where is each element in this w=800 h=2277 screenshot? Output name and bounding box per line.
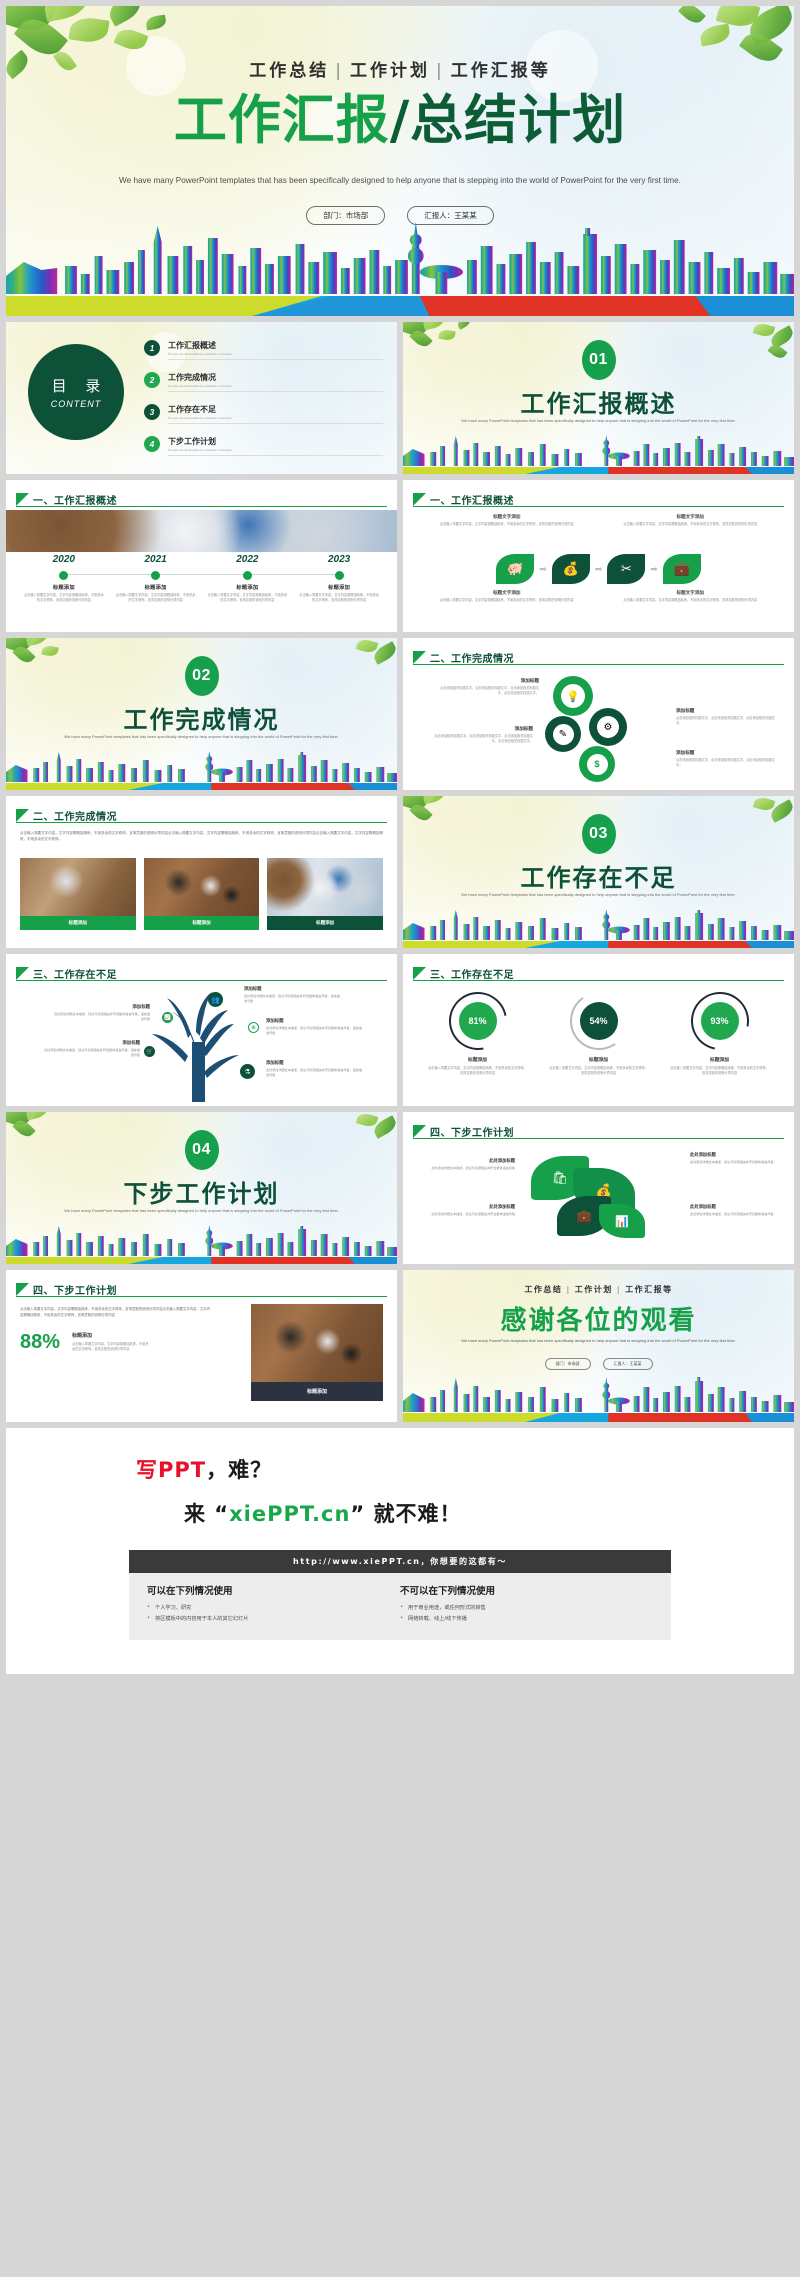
timeline-dot[interactable] xyxy=(243,571,252,580)
section-title: 下步工作计划 xyxy=(6,1174,397,1209)
toc-item-4[interactable]: 4 下步工作计划 The user can demonstrate on a p… xyxy=(144,436,383,456)
meeting-photo xyxy=(6,510,397,552)
title-main: 工作汇报/总结计划 xyxy=(6,92,794,150)
timeline-dot[interactable] xyxy=(151,571,160,580)
triangle-marker-icon xyxy=(16,967,29,980)
donut-stat[interactable]: 54% 标题添加 点击输入简要文字内容，文字内容需概括精炼，不用多余的文字修饰，… xyxy=(538,992,659,1076)
leaf-caption: 标题文字添加 点击输入简要文字内容，文字内容需概括精炼，不用多余的文字修饰，言简… xyxy=(415,514,599,527)
card-photo xyxy=(144,858,260,916)
slide-thumbnail-grid: 工作总结|工作计划|工作汇报等 工作汇报/总结计划 We have many P… xyxy=(0,0,800,1422)
slide-leaf-icons[interactable]: 一、工作汇报概述 标题文字添加 点击输入简要文字内容，文字内容需概括精炼，不用多… xyxy=(403,480,794,632)
kicker-sep: | xyxy=(436,61,445,81)
tree-desc: 此处添加详细文本描述，建议与标题相关并符合整体语言风格，语言描述尽量 xyxy=(266,1068,364,1078)
chart-up-icon[interactable]: 📈 xyxy=(162,1012,173,1023)
card-label: 标题添加 xyxy=(144,916,260,930)
blob-text-block: 此处添加标题 此处添加详细文本描述，建议与标题相关并符合整体语言风格 xyxy=(425,1204,515,1217)
blob-title: 此处添加标题 xyxy=(425,1158,515,1164)
timeline-year-cell: 2021 xyxy=(110,554,202,565)
piggy-bank-icon[interactable]: 🐖 xyxy=(496,554,534,584)
gear-desc: 点击添加相关标题文字，点击添加相关标题文字，点击添加相关标题文字，点击添加相关标… xyxy=(429,734,533,744)
header-rule xyxy=(413,664,784,665)
percent-left-column: 点击输入简要文字内容，文字内容需概括精炼，不用多余的文字修饰，言简意赅的说明分项… xyxy=(20,1306,210,1353)
header-rule xyxy=(413,506,784,507)
blob-title: 此处添加标题 xyxy=(690,1204,780,1210)
tree-desc: 此处添加详细文本描述，建议与标题相关并符合整体语言风格，语言描述尽量 xyxy=(52,1012,150,1022)
thanks-subtitle: We have many PowerPoint templates that h… xyxy=(403,1338,794,1345)
toc-item-1[interactable]: 1 工作汇报概述 The user can demonstrate on a p… xyxy=(144,340,383,360)
section-badge: 03 xyxy=(582,814,616,854)
blob-desc: 此处添加详细文本描述，建议与标题相关并符合整体语言风格 xyxy=(690,1212,780,1217)
license-allowed-heading: 可以在下列情况使用 xyxy=(147,1583,400,1597)
toc-title: 工作完成情况 xyxy=(168,372,383,383)
license-denied-item: 网络转载、线上/线下传播 xyxy=(400,1615,653,1622)
donut-title: 标题添加 xyxy=(538,1056,659,1063)
donut-stat[interactable]: 93% 标题添加 点击输入简要文字内容，文字内容需概括精炼，不用多余的文字修饰，… xyxy=(659,992,780,1076)
toc-desc: The user can demonstrate on a projector … xyxy=(168,417,383,420)
percent-image-card[interactable]: 标题添加 xyxy=(251,1304,383,1401)
section-subtitle: We have many PowerPoint templates that h… xyxy=(403,892,794,899)
triangle-marker-icon xyxy=(413,651,426,664)
gear-money[interactable]: $ xyxy=(579,746,615,782)
gear-pen[interactable]: ✎ xyxy=(545,716,581,752)
gear-title: 添加标题 xyxy=(676,750,780,756)
timeline-year: 2021 xyxy=(110,554,202,565)
donut-row: 81% 标题添加 点击输入简要文字内容，文字内容需概括精炼，不用多余的文字修饰，… xyxy=(417,992,780,1076)
donut-stat[interactable]: 81% 标题添加 点击输入简要文字内容，文字内容需概括精炼，不用多余的文字修饰，… xyxy=(417,992,538,1076)
tree-title: 添加标题 xyxy=(266,1060,364,1066)
leaf-caption-title: 标题文字添加 xyxy=(602,514,780,520)
money-icon: $ xyxy=(587,754,608,775)
license-body: 可以在下列情况使用 个人学习、研究 将区模板中的内容用于本人的其它幻灯片 不可以… xyxy=(129,1573,671,1640)
triangle-marker-icon xyxy=(413,967,426,980)
slide-section-03[interactable]: 03 工作存在不足 We have many PowerPoint templa… xyxy=(403,796,794,948)
triangle-marker-icon xyxy=(413,1125,426,1138)
section-title: 工作汇报概述 xyxy=(403,384,794,419)
timeline-rail-row xyxy=(18,568,385,582)
photo-card-row: 标题添加 标题添加 标题添加 xyxy=(20,858,383,930)
timeline-desc: 点击输入简要文字内容，文字内容需概括精炼，不用多余的文字修饰，言简意赅的说明分项… xyxy=(293,593,385,603)
donut-chart: 81% xyxy=(449,992,507,1050)
photo-card[interactable]: 标题添加 xyxy=(267,858,383,930)
leaf-caption: 标题文字添加 点击输入简要文字内容，文字内容需概括精炼，不用多余的文字修饰，言简… xyxy=(415,590,599,603)
kicker-item-1: 工作总结 xyxy=(524,1285,562,1294)
gear-title: 添加标题 xyxy=(676,708,780,714)
donut-desc: 点击输入简要文字内容，文字内容需概括精炼，不用多余的文字修饰，言简意赅的说明分项… xyxy=(659,1066,780,1076)
card-photo xyxy=(251,1304,383,1382)
leaf-caption-desc: 点击输入简要文字内容，文字内容需概括精炼，不用多余的文字修饰，言简意赅的说明分项… xyxy=(418,522,596,527)
timeline-bodies: 标题添加 点击输入简要文字内容，文字内容需概括精炼，不用多余的文字修饰，言简意赅… xyxy=(18,584,385,603)
section-badge: 04 xyxy=(185,1130,219,1170)
cart-icon[interactable]: 🛒 xyxy=(144,1046,155,1057)
promo-line1-red: 写PPT xyxy=(136,1458,206,1482)
timeline-dots xyxy=(18,568,385,582)
license-allowed-item: 将区模板中的内容用于本人的其它幻灯片 xyxy=(147,1615,400,1622)
license-denied-column: 不可以在下列情况使用 用于商业用途，或任何形式的转售 网络转载、线上/线下传播 xyxy=(400,1583,653,1626)
timeline: 2020 2021 2022 2023 标题添加 点击输入简要文字内容，文字内容… xyxy=(18,554,385,624)
percent-big-number: 88% xyxy=(20,1332,60,1352)
city-skyline xyxy=(6,216,794,316)
card-label: 标题添加 xyxy=(20,916,136,930)
section-subtitle: We have many PowerPoint templates that h… xyxy=(6,734,397,741)
tree-title: 添加标题 xyxy=(266,1018,364,1024)
timeline-body: 标题添加 点击输入简要文字内容，文字内容需概括精炼，不用多余的文字修饰，言简意赅… xyxy=(202,584,294,603)
timeline-year: 2020 xyxy=(18,554,110,565)
header-rule xyxy=(16,822,387,823)
license-url-bar[interactable]: http://www.xiePPT.cn，你想要的这都有～ xyxy=(129,1550,671,1573)
slide-title[interactable]: 工作总结|工作计划|工作汇报等 工作汇报/总结计划 We have many P… xyxy=(6,6,794,316)
tree-diagram: 📈 🛒 👥 ⊕ ⚗ 添加标题 此处添加详细文本描述，建议与标题相关并符合整体语言… xyxy=(16,982,387,1102)
kicker-sep: | xyxy=(617,1285,621,1294)
gear-text-block: 添加标题 点击添加相关标题文字，点击添加相关标题文字，点击添加相关标题文字，点击… xyxy=(435,678,539,696)
tree-desc: 此处添加详细文本描述，建议与标题相关并符合整体语言风格，语言描述尽量 xyxy=(244,994,342,1004)
briefcase-icon[interactable]: 💼 xyxy=(663,554,701,584)
toc-number: 4 xyxy=(144,436,160,452)
slide-photo-cards[interactable]: 二、工作完成情况 点击输入简要文字内容，文字内容需概括精炼，不用多余的文字修饰，… xyxy=(6,796,397,948)
timeline-body: 标题添加 点击输入简要文字内容，文字内容需概括精炼，不用多余的文字修饰，言简意赅… xyxy=(293,584,385,603)
city-skyline xyxy=(403,906,794,948)
license-allowed-column: 可以在下列情况使用 个人学习、研究 将区模板中的内容用于本人的其它幻灯片 xyxy=(147,1583,400,1626)
slide-contents[interactable]: 目 录 CONTENT 1 工作汇报概述 The user can demons… xyxy=(6,322,397,474)
tree-text-block: 添加标题 此处添加详细文本描述，建议与标题相关并符合整体语言风格，语言描述尽量 xyxy=(52,1004,150,1022)
promo-line-1: 写PPT，难？ xyxy=(6,1454,794,1484)
reporter-pill: 汇报人：王某某 xyxy=(603,1358,653,1370)
gear-desc: 点击添加相关标题文字，点击添加相关标题文字，点击添加相关标题文字，点击添加相关标… xyxy=(435,686,539,696)
gear-icon: ⚙ xyxy=(597,716,619,738)
promo-line2-post: ” 就不难！ xyxy=(350,1502,461,1526)
header-rule xyxy=(16,506,387,507)
toc-desc: The user can demonstrate on a projector … xyxy=(168,353,383,356)
donut-value: 93% xyxy=(701,1002,739,1040)
tree-text-block: 添加标题 此处添加详细文本描述，建议与标题相关并符合整体语言风格，语言描述尽量 xyxy=(42,1040,140,1058)
gear-text-block: 添加标题 点击添加相关标题文字，点击添加相关标题文字，点击添加相关标题文字。 xyxy=(676,750,780,768)
title-part-a: 工作汇报 xyxy=(174,90,390,151)
hierarchy-icon[interactable]: ⚗ xyxy=(240,1064,255,1079)
promo-line1-rest: ，难？ xyxy=(206,1458,272,1482)
dept-pill: 部门：市场部 xyxy=(545,1358,591,1370)
donut-title: 标题添加 xyxy=(417,1056,538,1063)
leaf-captions-top: 标题文字添加 点击输入简要文字内容，文字内容需概括精炼，不用多余的文字修饰，言简… xyxy=(415,514,782,527)
tree-title: 添加标题 xyxy=(52,1004,150,1010)
gear-text-block: 添加标题 点击添加相关标题文字，点击添加相关标题文字，点击添加相关标题文字，点击… xyxy=(429,726,533,744)
timeline-body: 标题添加 点击输入简要文字内容，文字内容需概括精炼，不用多余的文字修饰，言简意赅… xyxy=(18,584,110,603)
gear-text-block: 添加标题 点击添加相关标题文字，点击添加相关标题文字，点击添加相关标题文字。 xyxy=(676,708,780,726)
arrow-right-icon: ➡ xyxy=(595,564,603,575)
slide-gears[interactable]: 二、工作完成情况 💡 ⚙ ✎ $ 添加标题 点击添加相关标题文字，点击添加相关标… xyxy=(403,638,794,790)
promo-line2-pre: 来 “ xyxy=(184,1502,229,1526)
section-subtitle: We have many PowerPoint templates that h… xyxy=(6,1208,397,1215)
intro-paragraph: 点击输入简要文字内容，文字内容需概括精炼，不用多余的文字修饰，言简意赅的说明分项… xyxy=(20,830,383,842)
promo-line-2: 来 “xiePPT.cn” 就不难！ xyxy=(6,1498,794,1528)
kicker-item-2: 工作计划 xyxy=(350,61,430,81)
slide-donut-stats[interactable]: 三、工作存在不足 81% 标题添加 点击输入简要文字内容，文字内容需概括精炼，不… xyxy=(403,954,794,1106)
percent-title: 标题添加 xyxy=(72,1332,150,1339)
donut-title: 标题添加 xyxy=(659,1056,780,1063)
timeline-years: 2020 2021 2022 2023 xyxy=(18,554,385,565)
gear-settings[interactable]: ⚙ xyxy=(589,708,627,746)
blob-text-block: 此处添加标题 此处添加详细文本描述，建议与标题相关并符合整体语言风格 xyxy=(690,1152,780,1165)
kicker-item-1: 工作总结 xyxy=(249,61,329,81)
contents-list: 1 工作汇报概述 The user can demonstrate on a p… xyxy=(144,340,383,468)
leaf-caption-desc: 点击输入简要文字内容，文字内容需概括精炼，不用多余的文字修饰，言简意赅的说明分项… xyxy=(602,522,780,527)
gear-title: 添加标题 xyxy=(435,678,539,684)
blob-text-block: 此处添加标题 此处添加详细文本描述，建议与标题相关并符合整体语言风格 xyxy=(690,1204,780,1217)
header-rule xyxy=(413,1138,784,1139)
percent-desc: 点击输入简要文字内容，文字内容需概括精炼，不用多余的文字修饰，言简意赅的说明分项… xyxy=(72,1342,150,1352)
leaf-caption-desc: 点击输入简要文字内容，文字内容需概括精炼，不用多余的文字修饰，言简意赅的说明分项… xyxy=(602,598,780,603)
blob-text-block: 此处添加标题 此处添加详细文本描述，建议与标题相关并符合整体语言风格 xyxy=(425,1158,515,1171)
timeline-title: 标题添加 xyxy=(110,584,202,591)
card-label: 标题添加 xyxy=(267,916,383,930)
percent-highlight-row: 88% 标题添加 点击输入简要文字内容，文字内容需概括精炼，不用多余的文字修饰，… xyxy=(20,1332,210,1352)
timeline-year-cell: 2022 xyxy=(202,554,294,565)
section-badge: 01 xyxy=(582,340,616,380)
toc-number: 1 xyxy=(144,340,160,356)
license-denied-item: 用于商业用途，或任何形式的转售 xyxy=(400,1604,653,1611)
section-subtitle: We have many PowerPoint templates that h… xyxy=(403,418,794,425)
tree-desc: 此处添加详细文本描述，建议与标题相关并符合整体语言风格，语言描述尽量 xyxy=(266,1026,364,1036)
slide-timeline[interactable]: 一、工作汇报概述 2020 2021 2022 2023 xyxy=(6,480,397,632)
lightbulb-icon: 💡 xyxy=(561,684,585,708)
thanks-pill-row: 部门：市场部 汇报人：王某某 xyxy=(403,1358,794,1370)
tree-title: 添加标题 xyxy=(42,1040,140,1046)
leaf-captions-bottom: 标题文字添加 点击输入简要文字内容，文字内容需概括精炼，不用多余的文字修饰，言简… xyxy=(415,590,782,603)
slide-section-01[interactable]: 01 工作汇报概述 We have many PowerPoint templa… xyxy=(403,322,794,474)
timeline-desc: 点击输入简要文字内容，文字内容需概括精炼，不用多余的文字修饰，言简意赅的说明分项… xyxy=(202,593,294,603)
timeline-desc: 点击输入简要文字内容，文字内容需概括精炼，不用多余的文字修饰，言简意赅的说明分项… xyxy=(110,593,202,603)
slide-tree[interactable]: 三、工作存在不足 📈 🛒 👥 ⊕ ⚗ xyxy=(6,954,397,1106)
target-icon: ⊕ xyxy=(248,1022,259,1033)
timeline-title: 标题添加 xyxy=(18,584,110,591)
leaf-caption-desc: 点击输入简要文字内容，文字内容需概括精炼，不用多余的文字修饰，言简意赅的说明分项… xyxy=(418,598,596,603)
gear-lightbulb[interactable]: 💡 xyxy=(553,676,593,716)
city-skyline xyxy=(403,432,794,474)
tree-desc: 此处添加详细文本描述，建议与标题相关并符合整体语言风格，语言描述尽量 xyxy=(42,1048,140,1058)
timeline-title: 标题添加 xyxy=(202,584,294,591)
card-label: 标题添加 xyxy=(251,1382,383,1401)
timeline-dot[interactable] xyxy=(335,571,344,580)
triangle-marker-icon xyxy=(16,809,29,822)
license-box: http://www.xiePPT.cn，你想要的这都有～ 可以在下列情况使用 … xyxy=(129,1550,671,1640)
gear-title: 添加标题 xyxy=(429,726,533,732)
card-photo xyxy=(20,858,136,916)
contents-heading-en: CONTENT xyxy=(51,399,102,409)
kicker-sep: | xyxy=(566,1285,570,1294)
toc-title: 工作存在不足 xyxy=(168,404,383,415)
leaf-caption: 标题文字添加 点击输入简要文字内容，文字内容需概括精炼，不用多余的文字修饰，言简… xyxy=(599,514,783,527)
photo-card[interactable]: 标题添加 xyxy=(20,858,136,930)
header-rule xyxy=(413,980,784,981)
timeline-year-cell: 2023 xyxy=(293,554,385,565)
contents-badge: 目 录 CONTENT xyxy=(28,344,124,440)
donut-value: 54% xyxy=(580,1002,618,1040)
kicker-sep: | xyxy=(335,61,344,81)
toc-number: 3 xyxy=(144,404,160,420)
promo-site-name[interactable]: xiePPT.cn xyxy=(229,1502,350,1526)
gear-desc: 点击添加相关标题文字，点击添加相关标题文字，点击添加相关标题文字。 xyxy=(676,716,780,726)
arrow-right-icon: ➡ xyxy=(539,564,547,575)
section-title: 工作完成情况 xyxy=(6,700,397,735)
triangle-marker-icon xyxy=(413,493,426,506)
timeline-title: 标题添加 xyxy=(293,584,385,591)
license-denied-heading: 不可以在下列情况使用 xyxy=(400,1583,653,1597)
template-preview-page: 工作总结|工作计划|工作汇报等 工作汇报/总结计划 We have many P… xyxy=(0,0,800,1674)
timeline-desc: 点击输入简要文字内容，文字内容需概括精炼，不用多余的文字修饰，言简意赅的说明分项… xyxy=(18,593,110,603)
toc-item-3[interactable]: 3 工作存在不足 The user can demonstrate on a p… xyxy=(144,404,383,424)
slide-section-04[interactable]: 04 下步工作计划 We have many PowerPoint templa… xyxy=(6,1112,397,1264)
timeline-body: 标题添加 点击输入简要文字内容，文字内容需概括精炼，不用多余的文字修饰，言简意赅… xyxy=(110,584,202,603)
blob-desc: 此处添加详细文本描述，建议与标题相关并符合整体语言风格 xyxy=(690,1160,780,1165)
section-badge: 02 xyxy=(185,656,219,696)
license-allowed-item: 个人学习、研究 xyxy=(147,1604,400,1611)
donut-chart: 93% xyxy=(691,992,749,1050)
toc-desc: The user can demonstrate on a projector … xyxy=(168,449,383,452)
slide-blobs[interactable]: 四、下步工作计划 🛍 💰 💼 📊 此处添加标题 此处添加详细文本描述，建议与标题… xyxy=(403,1112,794,1264)
leaf-caption-title: 标题文字添加 xyxy=(418,514,596,520)
toc-number: 2 xyxy=(144,372,160,388)
tree-text-block: 添加标题 此处添加详细文本描述，建议与标题相关并符合整体语言风格，语言描述尽量 xyxy=(266,1018,364,1036)
thanks-title: 感谢各位的观看 xyxy=(403,1300,794,1337)
header-rule xyxy=(16,1296,387,1297)
percent-paragraph: 点击输入简要文字内容，文字内容需概括精炼，不用多余的文字修饰，言简意赅的说明分项… xyxy=(20,1306,210,1318)
timeline-dot[interactable] xyxy=(59,571,68,580)
toc-title: 下步工作计划 xyxy=(168,436,383,447)
city-skyline xyxy=(6,748,397,790)
kicker-item-2: 工作计划 xyxy=(575,1285,613,1294)
triangle-marker-icon xyxy=(16,493,29,506)
hand-money-icon[interactable]: 💰 xyxy=(552,554,590,584)
pen-icon: ✎ xyxy=(553,724,574,745)
city-skyline xyxy=(6,1222,397,1264)
blob-title: 此处添加标题 xyxy=(425,1204,515,1210)
timeline-year: 2023 xyxy=(293,554,385,565)
chart-icon[interactable]: 📊 xyxy=(599,1204,645,1238)
leaf-caption-title: 标题文字添加 xyxy=(418,590,596,596)
promo-footer: 写PPT，难？ 来 “xiePPT.cn” 就不难！ http://www.xi… xyxy=(6,1428,794,1674)
header-rule xyxy=(16,980,387,981)
title-kicker: 工作总结|工作计划|工作汇报等 xyxy=(6,56,794,81)
donut-value: 81% xyxy=(459,1002,497,1040)
people-icon[interactable]: 👥 xyxy=(208,992,223,1007)
card-photo xyxy=(267,858,383,916)
contents-heading-cn: 目 录 xyxy=(45,375,108,396)
leaf-caption: 标题文字添加 点击输入简要文字内容，文字内容需概括精炼，不用多余的文字修饰，言简… xyxy=(599,590,783,603)
kicker-item-3: 工作汇报等 xyxy=(625,1285,673,1294)
city-skyline xyxy=(403,1374,794,1422)
tree-text-block: 添加标题 此处添加详细文本描述，建议与标题相关并符合整体语言风格，语言描述尽量 xyxy=(244,986,342,1004)
toc-item-2[interactable]: 2 工作完成情况 The user can demonstrate on a p… xyxy=(144,372,383,392)
slide-section-02[interactable]: 02 工作完成情况 We have many PowerPoint templa… xyxy=(6,638,397,790)
leaf-icon-row: 🐖 ➡ 💰 ➡ ✂ ➡ 💼 xyxy=(415,554,782,584)
tree-text-block: 添加标题 此处添加详细文本描述，建议与标题相关并符合整体语言风格，语言描述尽量 xyxy=(266,1060,364,1078)
slide-percent-88[interactable]: 四、下步工作计划 点击输入简要文字内容，文字内容需概括精炼，不用多余的文字修饰，… xyxy=(6,1270,397,1422)
timeline-year: 2022 xyxy=(202,554,294,565)
triangle-marker-icon xyxy=(16,1283,29,1296)
gear-desc: 点击添加相关标题文字，点击添加相关标题文字，点击添加相关标题文字。 xyxy=(676,758,780,768)
blob-desc: 此处添加详细文本描述，建议与标题相关并符合整体语言风格 xyxy=(425,1166,515,1171)
toc-desc: The user can demonstrate on a projector … xyxy=(168,385,383,388)
thanks-kicker: 工作总结|工作计划|工作汇报等 xyxy=(403,1284,794,1295)
arrow-right-icon: ➡ xyxy=(650,564,658,575)
blob-desc: 此处添加详细文本描述，建议与标题相关并符合整体语言风格 xyxy=(425,1212,515,1217)
toc-title: 工作汇报概述 xyxy=(168,340,383,351)
slide-thanks[interactable]: 工作总结|工作计划|工作汇报等 感谢各位的观看 We have many Pow… xyxy=(403,1270,794,1422)
title-part-b: /总结计划 xyxy=(390,90,626,151)
tree-title: 添加标题 xyxy=(244,986,342,992)
timeline-year-cell: 2020 xyxy=(18,554,110,565)
donut-desc: 点击输入简要文字内容，文字内容需概括精炼，不用多余的文字修饰，言简意赅的说明分项… xyxy=(417,1066,538,1076)
section-title: 工作存在不足 xyxy=(403,858,794,893)
photo-card[interactable]: 标题添加 xyxy=(144,858,260,930)
donut-desc: 点击输入简要文字内容，文字内容需概括精炼，不用多余的文字修饰，言简意赅的说明分项… xyxy=(538,1066,659,1076)
blob-title: 此处添加标题 xyxy=(690,1152,780,1158)
title-subtitle: We have many PowerPoint templates that h… xyxy=(6,174,794,187)
leaf-caption-title: 标题文字添加 xyxy=(602,590,780,596)
kicker-item-3: 工作汇报等 xyxy=(451,61,551,81)
donut-chart: 54% xyxy=(570,992,628,1050)
scissors-icon[interactable]: ✂ xyxy=(607,554,645,584)
